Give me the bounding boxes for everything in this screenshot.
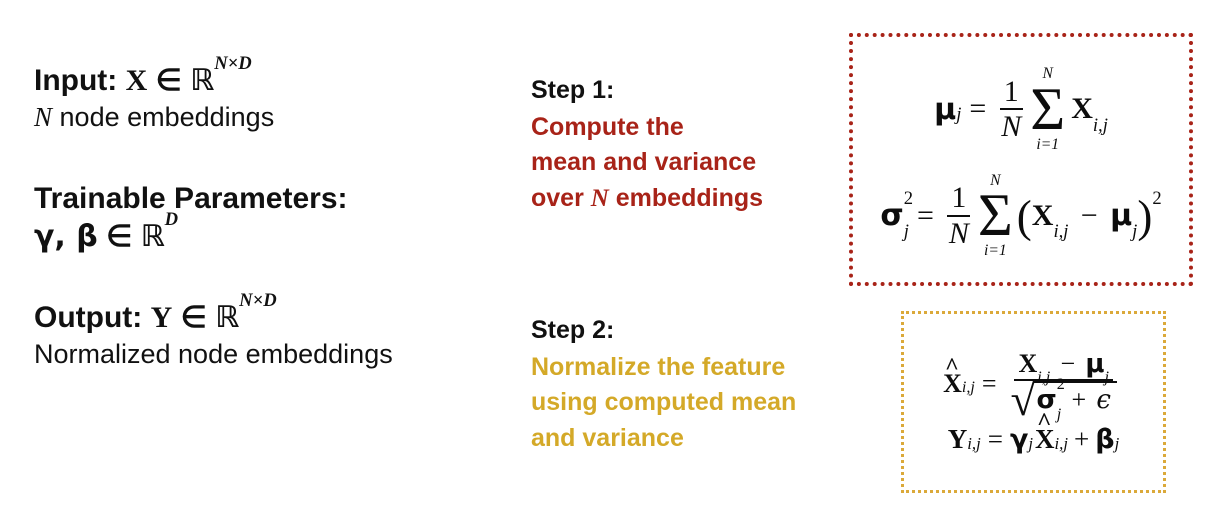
reals-symbol: ℝ [215,300,239,335]
fraction-one-over-N: 1 N [997,75,1025,144]
sum-lower-limit: i=1 [1036,137,1059,153]
minus-sign: − [1060,349,1075,378]
spacer-1 [34,136,504,180]
step1-desc-var-N: N [591,185,609,212]
fraction-denominator: N [945,217,973,251]
X-symbol: X [1071,92,1093,125]
subscript-ij: i,j [1037,369,1050,386]
membership-icon: ∈ [106,220,132,253]
subscript-j: j [1132,221,1137,242]
step2-description: Normalize the feature using computed mea… [531,350,851,457]
summand-X: Xi,j [1071,92,1108,126]
step1-desc-suffix: embeddings [609,184,763,212]
sigma-sum-icon: Σ [978,188,1013,243]
input-definition-line: Input: X ∈ ℝN×D [34,62,504,100]
summation-operator: N Σ i=1 [1030,66,1065,152]
output-exponent: N×D [239,290,276,311]
superscript-2: 2 [904,188,913,209]
step1-description-line: mean and variance [531,145,851,181]
input-symbol-X: X [126,64,148,97]
hat-accent-icon: ^ [1037,411,1051,436]
fraction-one-over-N: 1 N [945,181,973,250]
input-block: Input: X ∈ ℝN×D N node embeddings [34,62,504,136]
plus-sign: + [1071,385,1086,414]
X-hat-symbol: ^X [943,368,962,399]
step1-formula-box: μj = 1 N N Σ i=1 Xi,j σ2j = 1 N N Σ [849,33,1193,286]
reals-symbol: ℝ [141,219,165,254]
output-symbol-Y: Y [151,301,173,334]
formula-variance: σ2j = 1 N N Σ i=1 (Xi,j − μj)2 [853,173,1189,259]
sigma-sum-icon: Σ [1030,82,1065,137]
superscript-2: 2 [1152,188,1161,209]
sigma-squared-j: σ2j [880,198,909,233]
step1-description-line: over N embeddings [531,181,851,217]
equals-sign: = [988,424,1003,455]
superscript-2: 2 [1057,376,1065,393]
beta-symbol: β [1095,424,1114,455]
step1-text-column: Step 1: Compute the mean and variance ov… [531,72,851,216]
step2-text-column: Step 2: Normalize the feature using comp… [531,312,851,456]
input-exponent: N×D [214,53,251,74]
left-paren: ( [1017,192,1032,242]
reals-symbol: ℝ [190,63,214,98]
X-symbol: X [1032,199,1054,232]
variance-summand: (Xi,j − μj)2 [1017,198,1162,233]
subscript-ij: i,j [1093,115,1108,136]
output-label: Output: [34,301,142,334]
input-caption-var: N [34,102,52,132]
equals-sign: = [969,92,986,126]
formula-normalize: ^Xi,j = Xi,j − μj √ σ2j + ϵ [904,349,1163,418]
subscript-j: j [1105,369,1109,386]
Y-symbol: Y [948,424,968,455]
normalization-fraction: Xi,j − μj √ σ2j + ϵ [1007,349,1121,418]
fraction-denominator: N [997,110,1025,144]
formula-affine: Yi,j = γj ^Xi,j + βj [904,424,1163,455]
output-caption: Normalized node embeddings [34,337,504,373]
step2-description-line: Normalize the feature [531,350,851,386]
trainable-label: Trainable Parameters: [34,180,504,218]
gamma-symbol: γ [1010,424,1028,455]
right-paren: ) [1137,192,1152,242]
trainable-block: Trainable Parameters: γ, β ∈ ℝD [34,180,504,257]
input-caption-rest: node embeddings [60,102,275,132]
fraction-numerator: 1 [1000,75,1023,111]
epsilon-symbol: ϵ [1096,385,1111,415]
mu-symbol: μ [934,92,956,127]
input-caption: N node embeddings [34,100,504,136]
equals-sign: = [917,199,934,233]
trainable-symbols: γ, β [34,219,98,254]
hat-accent-icon: ^ [945,356,959,380]
square-root: √ σ2j + ϵ [1011,381,1117,418]
mu-symbol: μ [1085,349,1104,379]
subscript-ij: i,j [1053,221,1068,242]
formula-mean: μj = 1 N N Σ i=1 Xi,j [853,66,1189,152]
fraction-numerator: 1 [947,181,970,217]
subscript-j: j [904,221,909,242]
plus-sign: + [1074,424,1089,455]
step2-description-line: and variance [531,421,851,457]
step2-description-line: using computed mean [531,385,851,421]
slide-canvas: Input: X ∈ ℝN×D N node embeddings Traina… [0,0,1207,526]
membership-icon: ∈ [156,64,182,97]
trainable-definition-line: γ, β ∈ ℝD [34,218,504,256]
step1-description-line: Compute the [531,110,851,146]
sigma-symbol: σ [880,198,903,233]
equals-sign: = [982,369,997,399]
X-hat-symbol: ^X [1035,424,1055,455]
input-label: Input: [34,64,117,97]
minus-sign: − [1081,199,1098,232]
subscript-j: j [1057,406,1061,423]
summation-operator: N Σ i=1 [978,173,1013,259]
step2-formula-box: ^Xi,j = Xi,j − μj √ σ2j + ϵ [901,311,1166,493]
output-block: Output: Y ∈ ℝN×D Normalized node embeddi… [34,299,504,373]
step2-title: Step 2: [531,312,851,350]
output-definition-line: Output: Y ∈ ℝN×D [34,299,504,337]
sum-lower-limit: i=1 [984,243,1007,259]
step1-desc-prefix: over [531,184,591,212]
membership-icon: ∈ [181,301,207,334]
mu-symbol: μ [1110,198,1132,233]
radical-icon: √ [1011,381,1036,418]
fraction-denominator: √ σ2j + ϵ [1007,381,1121,418]
trainable-exponent: D [165,209,178,230]
definitions-column: Input: X ∈ ℝN×D N node embeddings Traina… [34,62,504,373]
step1-title: Step 1: [531,72,851,110]
step1-description: Compute the mean and variance over N emb… [531,110,851,217]
